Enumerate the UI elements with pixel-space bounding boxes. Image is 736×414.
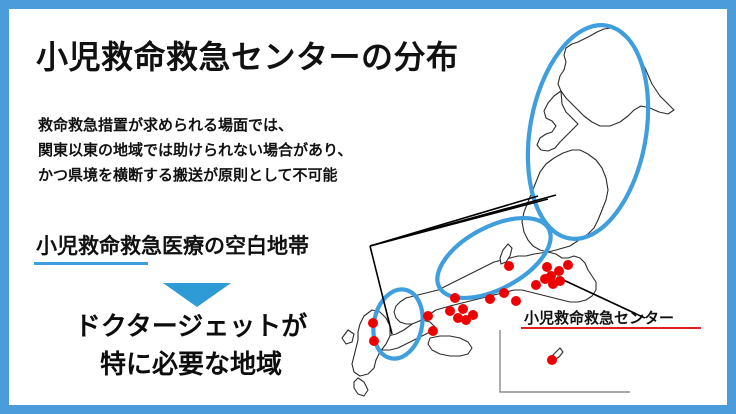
gap-heading: 小児救命救急医療の空白地帯 xyxy=(36,230,309,260)
center-marker xyxy=(546,271,556,281)
okinawa-inset-box xyxy=(500,330,630,392)
center-marker xyxy=(511,296,521,306)
center-marker xyxy=(540,274,550,284)
center-marker xyxy=(542,262,552,272)
center-marker xyxy=(555,276,565,286)
frame-top-border xyxy=(0,0,736,9)
hokkaido-tohoku-ellipse xyxy=(512,16,664,249)
center-marker xyxy=(504,261,514,271)
center-marker xyxy=(423,311,433,321)
center-marker xyxy=(499,288,509,298)
frame-right-border xyxy=(727,0,736,414)
center-marker xyxy=(468,310,478,320)
body-line-2: 関東以東の地域では助けられない場合があり、 xyxy=(38,138,352,163)
honshu-tohoku-outline xyxy=(522,150,608,252)
center-marker xyxy=(368,318,378,328)
conclusion-line-1: ドクタージェットが xyxy=(36,308,346,346)
down-arrow-icon xyxy=(163,283,231,307)
hokuriku-chubu-ellipse xyxy=(425,202,564,315)
kyushu-outline xyxy=(352,310,390,376)
leader-line-to-hokkaido xyxy=(370,199,548,246)
center-marker xyxy=(450,293,460,303)
center-marker xyxy=(458,304,468,314)
center-marker xyxy=(453,313,463,323)
noto-peninsula-outline xyxy=(500,244,512,264)
center-marker xyxy=(531,280,541,290)
legend-underline xyxy=(521,327,701,329)
gap-heading-underline xyxy=(34,262,148,265)
center-marker xyxy=(485,294,495,304)
leader-line-to-hokkaido-upper xyxy=(370,196,538,246)
center-marker xyxy=(428,326,438,336)
frame-bottom-border xyxy=(0,405,736,414)
legend-label: 小児救命救急センター xyxy=(524,307,674,328)
body-line-3: かつ県境を横断する搬送が原則として不可能 xyxy=(38,163,352,188)
slide-root: 小児救命救急センターの分布 救命救急措置が求められる場面では、 関東以東の地域で… xyxy=(0,0,736,414)
hokkaido-oshima-peninsula xyxy=(537,91,578,151)
conclusion-line-2: 特に必要な地域 xyxy=(36,346,346,384)
hokkaido-outline xyxy=(558,28,674,126)
chugoku-shikoku-ellipse xyxy=(367,285,429,363)
page-title: 小児救命救急センターの分布 xyxy=(36,32,459,78)
body-text: 救命救急措置が求められる場面では、 関東以東の地域では助けられない場合があり、 … xyxy=(38,113,352,188)
okinawa-island-outline xyxy=(551,348,563,360)
center-marker xyxy=(547,355,557,365)
frame-left-border xyxy=(0,0,9,414)
center-marker xyxy=(563,260,573,270)
center-marker xyxy=(461,315,471,325)
chugoku-outline xyxy=(378,320,436,350)
conclusion-text: ドクタージェットが 特に必要な地域 xyxy=(36,308,346,384)
leader-line-to-tohoku-top xyxy=(370,195,556,246)
body-line-1: 救命救急措置が求められる場面では、 xyxy=(38,113,352,138)
shikoku-outline xyxy=(428,336,472,356)
center-marker xyxy=(369,336,379,346)
center-marker xyxy=(445,306,455,316)
center-marker xyxy=(548,279,558,289)
kyushu-south-tip xyxy=(354,378,368,396)
leader-line-to-chugoku xyxy=(370,246,392,334)
center-marker xyxy=(554,266,564,276)
